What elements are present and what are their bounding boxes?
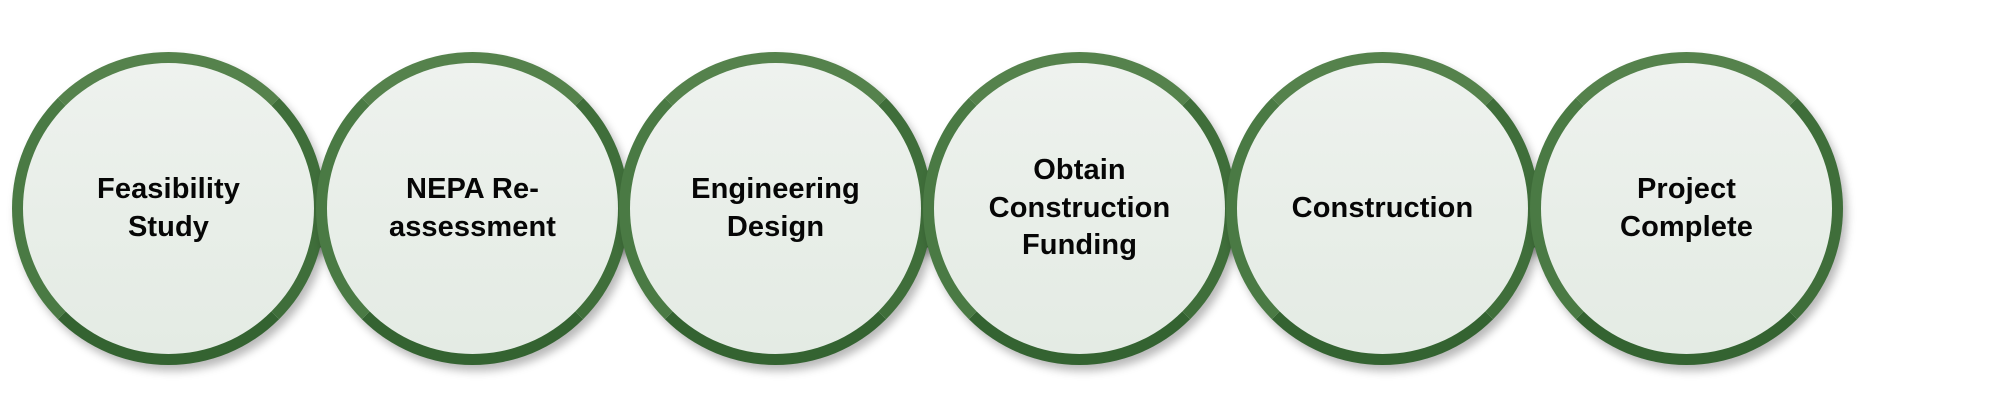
stage-label-feasibility-study: Feasibility Study <box>83 171 254 246</box>
stage-node-construction[interactable]: Construction <box>1226 52 1539 365</box>
stage-node-project-complete[interactable]: Project Complete <box>1530 52 1843 365</box>
stage-label-obtain-construction-funding: Obtain Construction Funding <box>975 152 1185 265</box>
stage-label-construction: Construction <box>1278 190 1488 228</box>
stage-node-feasibility-study[interactable]: Feasibility Study <box>12 52 325 365</box>
stage-label-nepa-reassessment: NEPA Re- assessment <box>375 171 570 246</box>
stage-node-engineering-design[interactable]: Engineering Design <box>619 52 932 365</box>
stage-node-obtain-construction-funding[interactable]: Obtain Construction Funding <box>923 52 1236 365</box>
process-flow-diagram: Feasibility Study NEPA Re- assessment En… <box>0 0 2000 414</box>
stage-label-engineering-design: Engineering Design <box>677 171 874 246</box>
stage-label-project-complete: Project Complete <box>1606 171 1767 246</box>
node-layer: Feasibility Study NEPA Re- assessment En… <box>0 0 2000 414</box>
stage-node-nepa-reassessment[interactable]: NEPA Re- assessment <box>316 52 629 365</box>
